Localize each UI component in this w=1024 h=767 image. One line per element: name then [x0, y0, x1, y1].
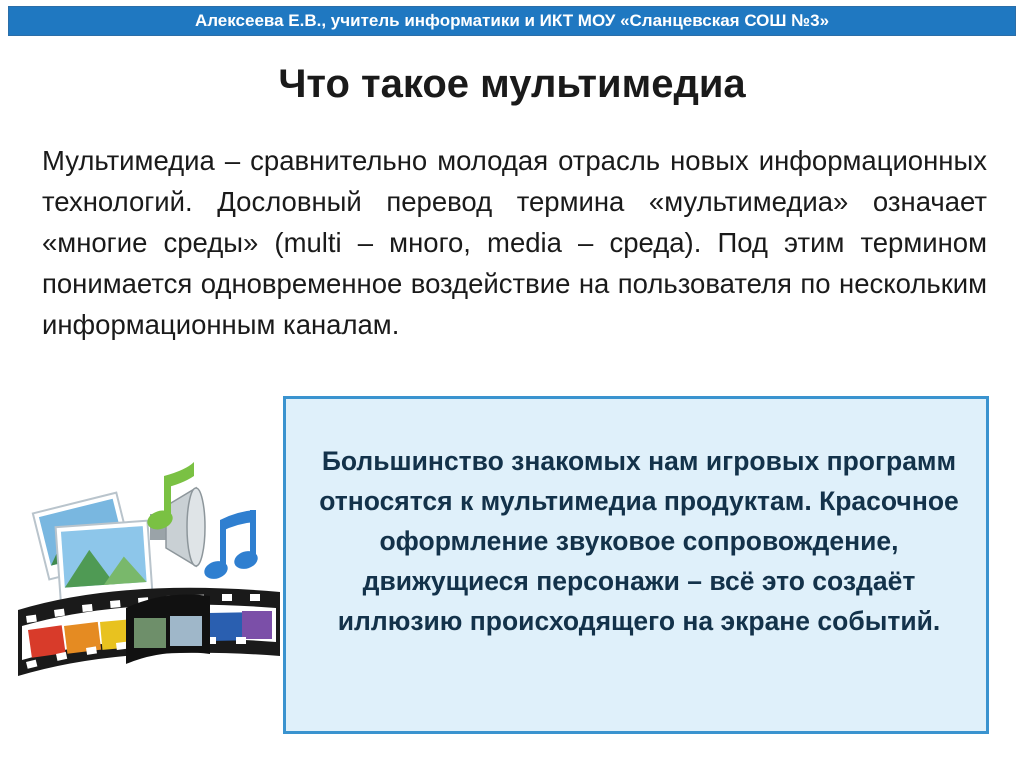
author-credit-text: Алексеева Е.В., учитель информатики и ИК…: [195, 11, 829, 31]
callout-text: Большинство знакомых нам игровых програм…: [306, 441, 972, 641]
slide-header-band: Алексеева Е.В., учитель информатики и ИК…: [8, 6, 1016, 36]
multimedia-collage-svg: [14, 440, 294, 700]
slide: Алексеева Е.В., учитель информатики и ИК…: [0, 0, 1024, 767]
film-strip-icon: [18, 588, 280, 676]
callout-box: Большинство знакомых нам игровых програм…: [283, 396, 989, 734]
photo-stack-icon: [33, 493, 153, 601]
body-paragraph: Мультимедиа – сравнительно молодая отрас…: [42, 140, 987, 345]
page-title: Что такое мультимедиа: [0, 62, 1024, 107]
multimedia-collage-illustration: [14, 440, 294, 700]
